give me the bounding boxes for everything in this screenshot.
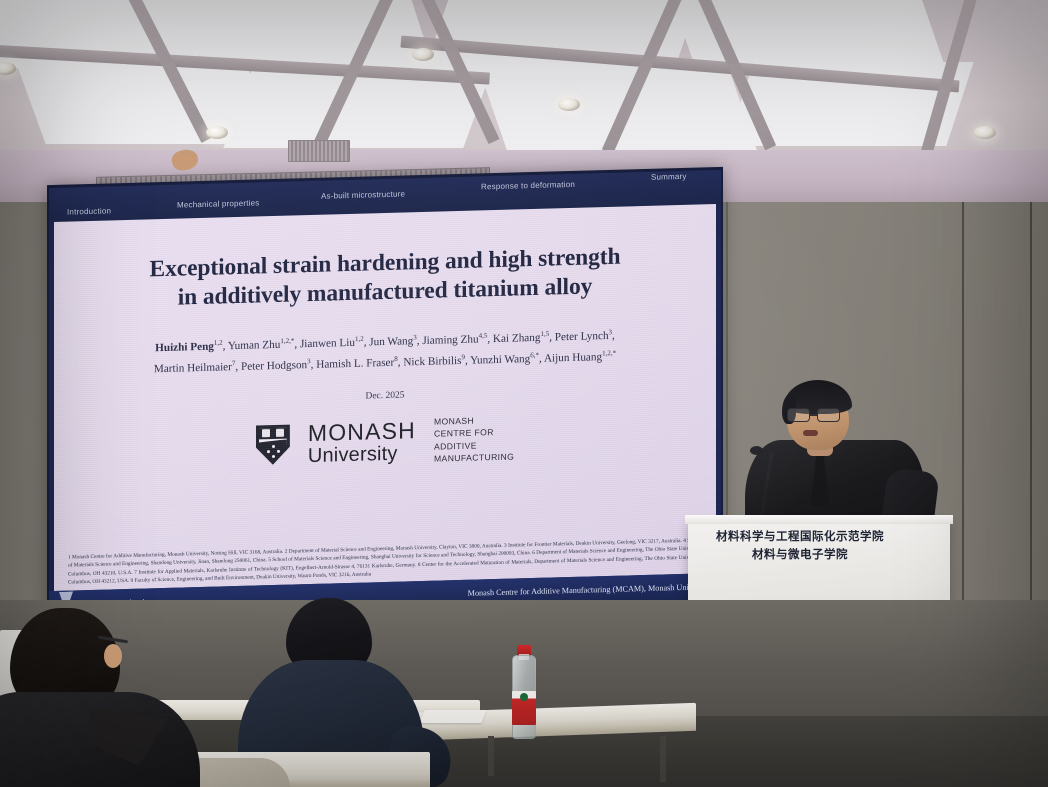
podium-banner-line2: 材料与微电子学院 [688,547,912,565]
presentation-slide: Introduction Mechanical properties As-bu… [49,170,721,617]
ceiling-spotlight [0,62,16,75]
podium-banner: 材料科学与工程国际化示范学院 材料与微电子学院 [688,529,912,565]
ceiling-spotlight [558,98,580,111]
wall-seam [726,176,728,536]
ceiling-spotlight [206,126,228,139]
podium-top-edge [685,515,953,524]
slide-nav-item-response-to-deformation[interactable]: Response to deformation [481,180,575,192]
mcam-line4: MANUFACTURING [434,451,514,466]
slide-nav-item-introduction[interactable]: Introduction [67,206,111,216]
paper-sheet [419,710,486,723]
projection-screen: Introduction Mechanical properties As-bu… [47,167,723,620]
monash-wordmark-line2: University [308,443,416,466]
wall-seam [962,150,964,620]
ceiling-spotlight [412,48,434,61]
ceiling-spotlight [974,126,996,139]
mcam-logo-text: MONASH CENTRE FOR ADDITIVE MANUFACTURING [434,413,514,465]
presenter-glasses-icon [787,408,847,423]
slide-nav-item-summary[interactable]: Summary [651,172,687,182]
slide-author-list: Huizhi Peng1,2, Yuman Zhu1,2,*, Jianwen … [68,324,702,383]
ceiling-vent [288,140,350,162]
presenting-author: Huizhi Peng [155,341,214,355]
microphone-icon [750,446,763,455]
slide-nav-item-mechanical-properties[interactable]: Mechanical properties [177,198,259,209]
slide-nav-item-as-built-microstructure[interactable]: As-built microstructure [321,189,405,200]
slide-content: Exceptional strain hardening and high st… [54,204,716,591]
water-bottle [512,641,536,739]
slide-date: Dec. 2025 [68,382,702,409]
monash-wordmark: MONASH University [308,419,416,466]
conference-photo: Introduction Mechanical properties As-bu… [0,0,1048,787]
slide-logo-row: MONASH University MONASH CENTRE FOR ADDI… [68,408,702,475]
desk-leg [660,736,666,782]
bottle-label [512,691,536,725]
presenter-mouth [803,430,818,436]
slide-footer-organization: Monash Centre for Additive Manufacturing… [468,582,711,598]
monash-crest-icon [256,424,290,465]
audience-front-ear [104,644,122,668]
desk-leg [488,736,494,776]
monash-wordmark-line1: MONASH [308,419,416,445]
podium-banner-line1: 材料科学与工程国际化示范学院 [688,529,912,547]
wall-seam [1030,150,1032,620]
slide-title: Exceptional strain hardening and high st… [68,240,702,314]
